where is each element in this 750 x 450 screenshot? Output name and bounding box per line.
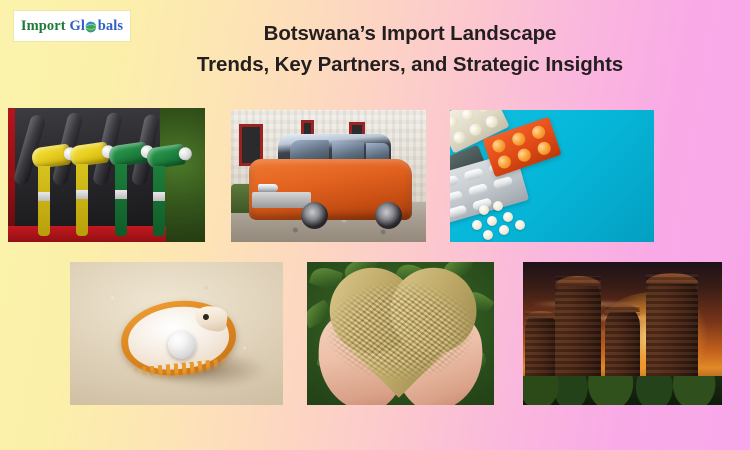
pearl [168,331,196,359]
page-title: Botswana’s Import Landscape Trends, Key … [110,18,710,80]
suv-grille [252,192,311,208]
image-grain-in-hands [307,262,494,405]
capsule [450,204,467,218]
nozzle-spout [76,164,88,236]
loose-tablet [479,205,489,215]
loose-tablet [487,216,497,226]
image-orange-suv [231,110,426,242]
globe-icon [85,21,97,33]
nozzle-spout [153,166,165,236]
capsule [450,174,459,188]
tower-texture [555,276,601,388]
cooling-tower [646,273,698,387]
title-line-1: Botswana’s Import Landscape [110,18,710,49]
capsule [463,167,484,181]
cooling-tower [605,305,641,388]
image-pharmaceutical-blisters [450,110,654,242]
tablet [467,122,483,138]
loose-tablet [499,225,509,235]
suv-rear-wheel [375,202,402,229]
loose-tablet [503,212,513,222]
nozzle-tip [178,146,193,161]
brand-logo-word-prefix: Gl [69,18,85,35]
nozzle-spout [115,164,127,236]
spout-band [153,192,165,201]
tower-texture [605,305,641,388]
image-power-station-sunset [523,262,722,405]
tower-texture [646,273,698,387]
tablet [530,124,547,141]
suv-headlight [258,184,278,192]
loose-tablet [493,201,503,211]
brand-logo-word-import: Import [21,18,66,35]
poster-canvas: Import Glbals Botswana’s Import Landscap… [0,0,750,450]
image-fuel-pumps [8,108,205,242]
tablet [510,131,527,148]
loose-tablet [472,220,482,230]
image-pearl-in-shell [70,262,283,405]
tablet [476,110,492,115]
brand-logo-text: Import Glbals [21,18,123,35]
tablet [450,114,460,130]
grain-kernel-texture [307,262,494,405]
tablet [460,110,476,122]
title-line-2: Trends, Key Partners, and Strategic Insi… [110,49,710,80]
capsule [467,183,488,197]
suv-front-wheel [301,202,328,229]
spout-band [76,190,88,199]
tablet [536,140,553,157]
capsule [450,190,463,204]
capsule [492,176,513,190]
nozzle-spout [38,166,50,236]
spout-band [38,192,50,201]
cooling-tower [555,276,601,388]
fuel-nozzle-green [146,143,187,169]
tablet [516,147,533,164]
tablet [496,154,513,171]
tablet [451,130,467,146]
loose-tablet [515,220,525,230]
loose-tablet [483,230,493,240]
spout-band [115,190,127,199]
tablet [490,138,507,155]
tablet [484,114,500,130]
tree-line [523,376,722,405]
